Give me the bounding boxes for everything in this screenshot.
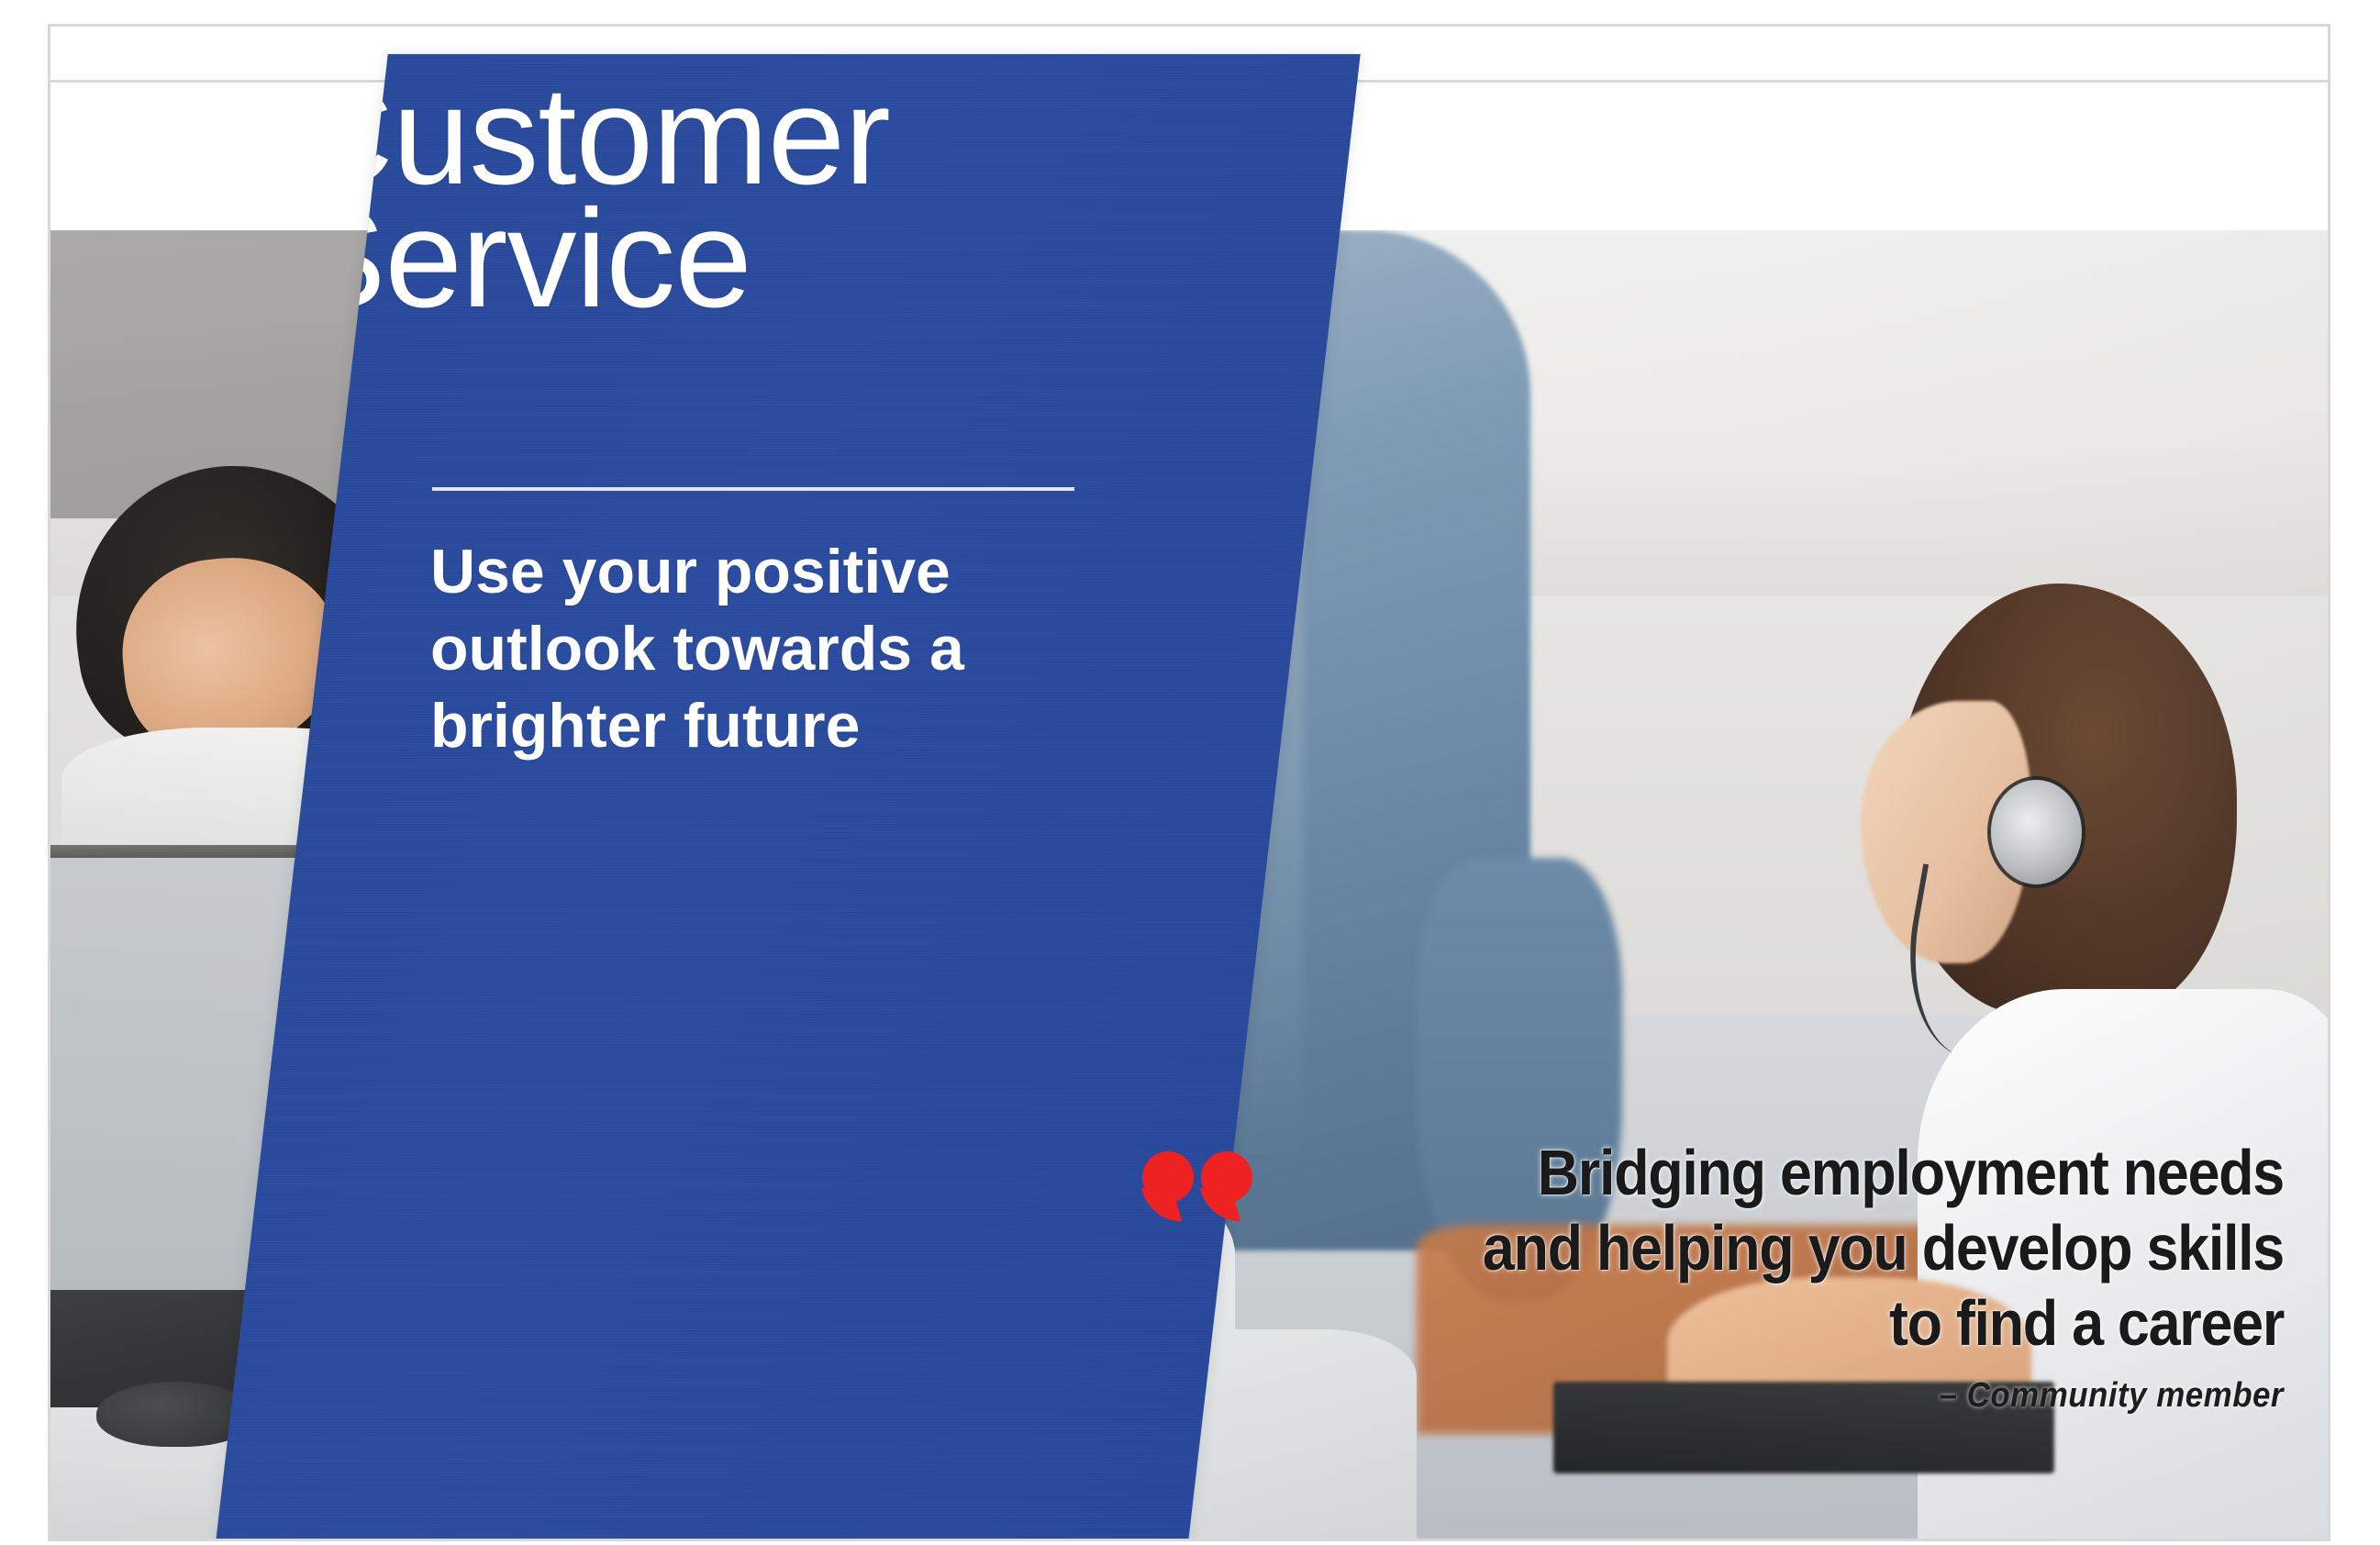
page-subtitle: Use your positive outlook towards a brig… [430,533,1155,764]
pull-quote: Bridging employment needs and helping yo… [1137,1135,2284,1416]
page-title: Customer Service [293,74,1100,320]
quotation-mark-icon [1142,1151,1262,1234]
quote-line-3: to find a career [1251,1285,2284,1361]
title-rule-divider [432,487,1074,491]
quote-line-1: Bridging employment needs [1251,1135,2284,1210]
page-title-line-1: Customer [293,74,1100,197]
flyer-cover: Customer Service Use your positive outlo… [0,0,2380,1545]
quote-attribution: – Community member [1229,1375,2284,1416]
quote-line-2: and helping you develop skills [1251,1210,2284,1285]
page-title-line-2: Service [293,197,1100,320]
page-border-frame: Customer Service Use your positive outlo… [48,24,2330,1541]
